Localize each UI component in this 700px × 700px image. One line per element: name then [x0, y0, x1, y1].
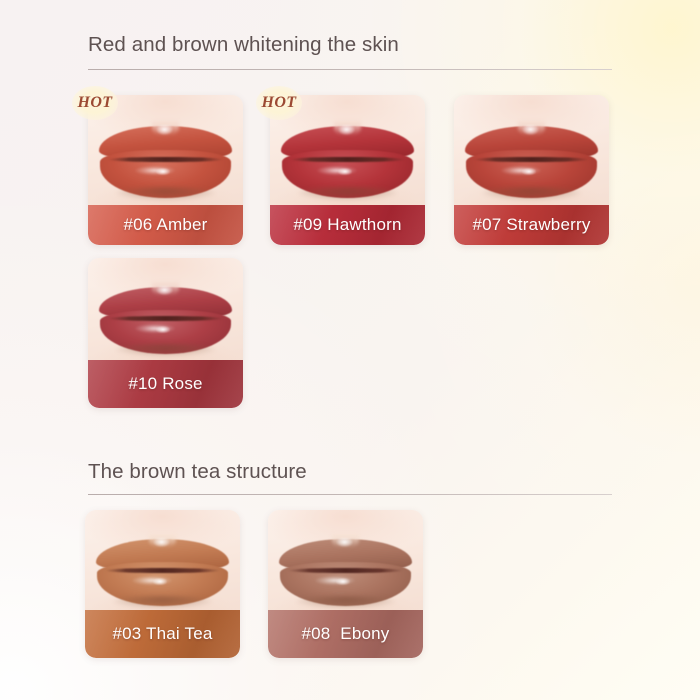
shade-name: #03 Thai Tea	[112, 624, 212, 644]
lip-swatch-image	[454, 95, 609, 213]
lip-under-shadow	[113, 596, 212, 608]
hot-badge-label: HOT	[262, 94, 297, 112]
lip-under-shadow	[296, 596, 395, 608]
shade-label: #07 Strawberry	[454, 205, 609, 245]
product-shade-catalog: Red and brown whitening the skin #06 Amb…	[0, 0, 700, 700]
hot-badge-label: HOT	[78, 94, 113, 112]
shade-name: #07 Strawberry	[472, 215, 590, 235]
mouth-line	[105, 568, 220, 573]
gloss-highlight-speck	[522, 168, 536, 175]
lip-under-shadow	[482, 187, 581, 200]
shade-label: #08 Ebony	[268, 610, 423, 658]
gloss-highlight-top	[156, 286, 173, 296]
gloss-highlight-speck	[338, 168, 352, 175]
gloss-highlight-top	[336, 538, 353, 548]
hot-badge: HOT	[256, 86, 302, 120]
shade-name: #09 Hawthorn	[293, 215, 401, 235]
lip-swatch-image	[88, 258, 243, 368]
gloss-highlight-top	[338, 125, 355, 136]
section-heading: Red and brown whitening the skin	[88, 33, 399, 57]
mouth-line	[288, 568, 403, 573]
gloss-highlight-speck	[156, 326, 170, 333]
product-card[interactable]: #10 Rose	[88, 258, 243, 408]
lip-under-shadow	[116, 344, 215, 356]
section-heading: The brown tea structure	[88, 460, 307, 484]
section-divider	[88, 69, 612, 70]
gloss-highlight-speck	[153, 578, 167, 585]
hot-badge: HOT	[72, 86, 118, 120]
gloss-highlight-speck	[336, 578, 350, 585]
product-card[interactable]: #06 Amber	[88, 95, 243, 245]
gloss-highlight-speck	[156, 168, 170, 175]
gloss-highlight-top	[153, 538, 170, 548]
lip-swatch-image	[85, 510, 240, 620]
section-divider	[88, 494, 612, 495]
lip-under-shadow	[116, 187, 215, 200]
lip-swatch-image	[268, 510, 423, 620]
shade-name: #06 Amber	[123, 215, 207, 235]
mouth-line	[108, 316, 223, 321]
product-card[interactable]: #09 Hawthorn	[270, 95, 425, 245]
shade-label: #03 Thai Tea	[85, 610, 240, 658]
gloss-highlight-top	[156, 125, 173, 136]
shade-name: #08 Ebony	[301, 624, 389, 644]
shade-label: #06 Amber	[88, 205, 243, 245]
lip-under-shadow	[298, 187, 397, 200]
shade-name: #10 Rose	[128, 374, 202, 394]
product-card[interactable]: #03 Thai Tea	[85, 510, 240, 658]
product-card[interactable]: #08 Ebony	[268, 510, 423, 658]
shade-label: #09 Hawthorn	[270, 205, 425, 245]
product-card[interactable]: #07 Strawberry	[454, 95, 609, 245]
gloss-highlight-top	[522, 125, 539, 136]
shade-label: #10 Rose	[88, 360, 243, 408]
